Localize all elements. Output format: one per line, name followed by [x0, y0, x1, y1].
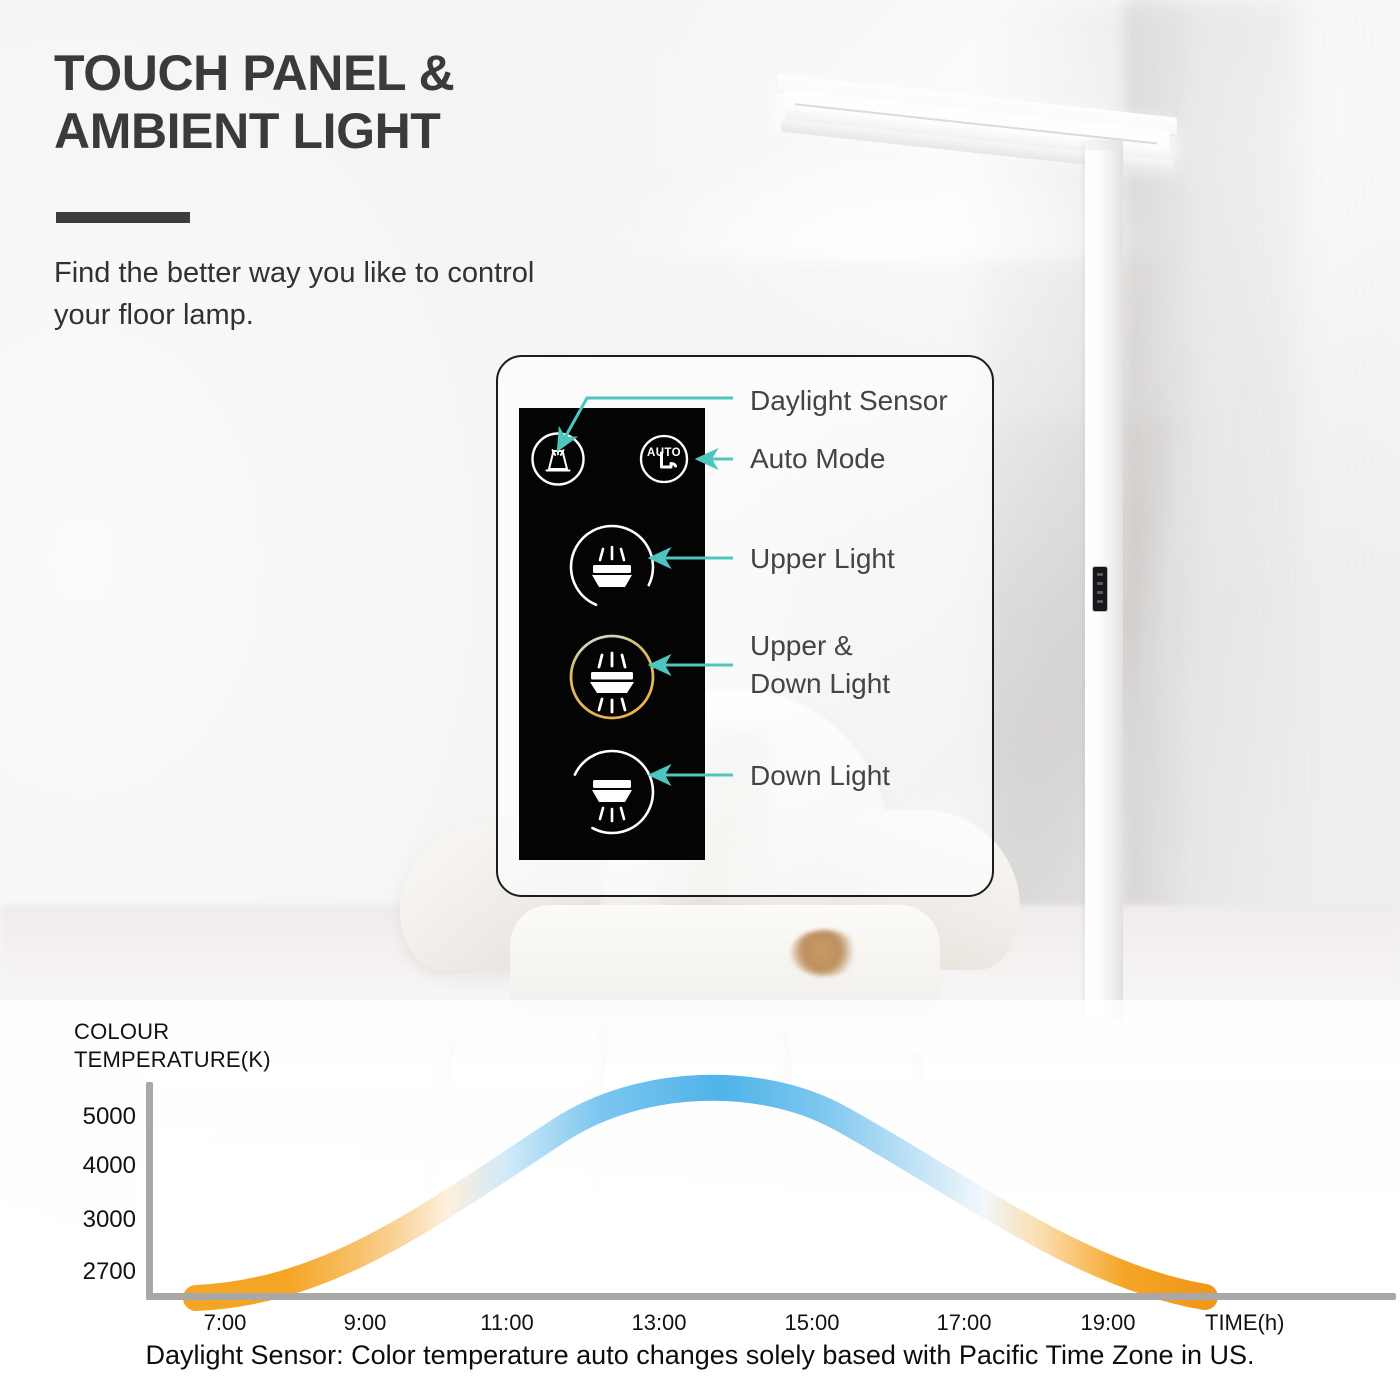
- upper-light-icon: [565, 520, 659, 614]
- product-infographic: TOUCH PANEL & AMBIENT LIGHT Find the bet…: [0, 0, 1400, 1400]
- upper-down-light-icon: [565, 630, 659, 724]
- switch-indicator-dot: [1097, 582, 1103, 585]
- floor-lamp-pole-cap: [1085, 140, 1123, 150]
- daylight-sensor-icon: [529, 430, 587, 488]
- chart-y-tick: 3000: [46, 1206, 136, 1234]
- chart-y-tick: 5000: [46, 1103, 136, 1131]
- callout-label-upper-light: Upper Light: [750, 540, 895, 578]
- callout-label-daylight-sensor: Daylight Sensor: [750, 382, 948, 420]
- chart-x-tick: 19:00: [1048, 1310, 1168, 1336]
- page-title: TOUCH PANEL & AMBIENT LIGHT: [54, 44, 694, 160]
- chart-x-tick: 17:00: [904, 1310, 1024, 1336]
- chart-x-tick: 9:00: [305, 1310, 425, 1336]
- chart-x-tick: 7:00: [165, 1310, 285, 1336]
- headline-block: TOUCH PANEL & AMBIENT LIGHT: [54, 44, 694, 160]
- page-subtitle: Find the better way you like to control …: [54, 252, 674, 336]
- chart-y-axis-title: COLOUR TEMPERATURE(K): [74, 1018, 374, 1074]
- switch-indicator-dot: [1097, 573, 1103, 576]
- daylight-sensor-button[interactable]: [529, 430, 587, 488]
- auto-mode-button[interactable]: AUTO: [638, 433, 690, 485]
- chart-x-tick: 13:00: [599, 1310, 719, 1336]
- touch-panel-surface: AUTO: [519, 408, 705, 860]
- switch-indicator-dot: [1097, 600, 1103, 603]
- armchair-wood-accent: [790, 930, 860, 976]
- down-light-icon: [565, 745, 659, 839]
- title-underline-rule: [56, 212, 190, 223]
- auto-mode-icon: AUTO: [638, 433, 690, 485]
- upper-down-light-button[interactable]: [565, 630, 659, 724]
- callout-label-down-light: Down Light: [750, 757, 890, 795]
- chart-x-tick: 15:00: [752, 1310, 872, 1336]
- switch-indicator-dot: [1097, 591, 1103, 594]
- chart-y-axis: [146, 1082, 153, 1300]
- svg-text:AUTO: AUTO: [647, 447, 681, 459]
- callout-label-auto-mode: Auto Mode: [750, 440, 885, 478]
- armchair-seat: [510, 905, 940, 1015]
- upper-light-button[interactable]: [565, 520, 659, 614]
- chart-y-tick: 2700: [46, 1258, 136, 1286]
- chart-y-tick: 4000: [46, 1152, 136, 1180]
- chart-x-axis: [146, 1293, 1396, 1300]
- chart-x-tick: 11:00: [447, 1310, 567, 1336]
- colour-temperature-curve: [196, 1088, 1205, 1298]
- callout-label-upper-down-light: Upper & Down Light: [750, 627, 890, 703]
- down-light-button[interactable]: [565, 745, 659, 839]
- lamp-pole-touch-switch[interactable]: [1093, 567, 1107, 611]
- chart-x-axis-title: TIME(h): [1205, 1310, 1284, 1336]
- chart-caption: Daylight Sensor: Color temperature auto …: [0, 1340, 1400, 1371]
